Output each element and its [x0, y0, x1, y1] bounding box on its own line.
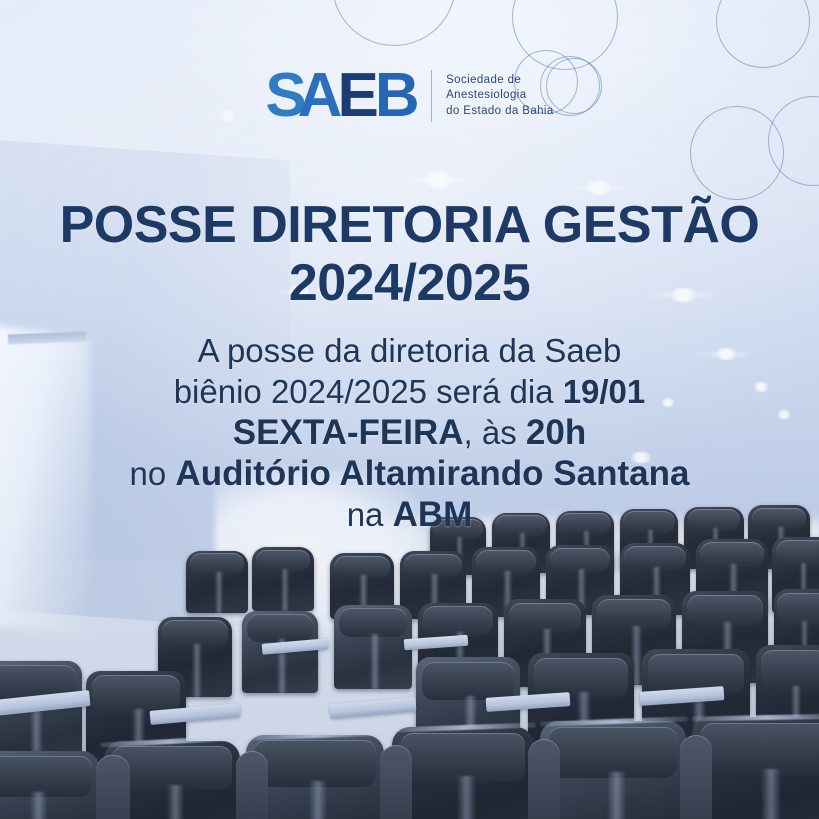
logo-tagline: Sociedade de Anestesiologia do Estado da…	[446, 73, 554, 120]
logo-letter-a: A	[298, 68, 340, 124]
logo-letter-b: B	[375, 68, 417, 124]
body-line-4-prefix: no	[130, 455, 176, 492]
headline-line-1: POSSE DIRETORIA GESTÃO	[0, 196, 819, 254]
poster-headline: POSSE DIRETORIA GESTÃO 2024/2025	[0, 196, 819, 312]
saeb-wordmark: SAEB	[265, 68, 416, 124]
seat-armrest	[236, 751, 268, 819]
seat	[540, 721, 686, 819]
seat	[0, 751, 100, 819]
event-date: 19/01	[563, 373, 646, 410]
body-line-2-text: biênio 2024/2025 será dia	[174, 373, 563, 410]
seat-armrest	[96, 755, 130, 819]
ceiling-spotlight	[584, 180, 614, 195]
seat-armrest	[680, 735, 712, 819]
seat-armrest	[380, 745, 412, 819]
seat	[334, 605, 412, 689]
event-weekday: SEXTA-FEIRA	[233, 413, 464, 452]
event-time: 20h	[526, 413, 586, 452]
saeb-logo: SAEB Sociedade de Anestesiologia do Esta…	[0, 68, 819, 124]
logo-tagline-line-1: Sociedade de	[446, 73, 554, 89]
seat-armrest	[528, 739, 560, 819]
ceiling-spotlight	[422, 172, 456, 188]
body-line-3: SEXTA-FEIRA, às 20h	[0, 412, 819, 453]
event-venue-org: ABM	[393, 495, 473, 534]
seat	[186, 551, 248, 613]
event-venue: Auditório Altamirando Santana	[175, 454, 689, 493]
body-line-5-prefix: na	[347, 496, 393, 533]
headline-line-2: 2024/2025	[0, 254, 819, 312]
logo-divider	[431, 70, 433, 122]
logo-tagline-line-3: do Estado da Bahia	[446, 104, 554, 120]
seat	[392, 727, 534, 819]
body-line-2: biênio 2024/2025 será dia 19/01	[0, 371, 819, 412]
body-line-5: na ABM	[0, 494, 819, 535]
poster-body-copy: A posse da diretoria da Saeb biênio 2024…	[0, 330, 819, 535]
seat-writing-tablet	[330, 697, 417, 718]
event-poster: SAEB Sociedade de Anestesiologia do Esta…	[0, 0, 819, 819]
seat	[252, 547, 314, 611]
body-line-1: A posse da diretoria da Saeb	[0, 330, 819, 371]
logo-letter-e: E	[337, 68, 375, 124]
logo-tagline-line-2: Anestesiologia	[446, 88, 554, 104]
body-line-4: no Auditório Altamirando Santana	[0, 453, 819, 494]
body-line-3-text: , às	[464, 414, 526, 451]
